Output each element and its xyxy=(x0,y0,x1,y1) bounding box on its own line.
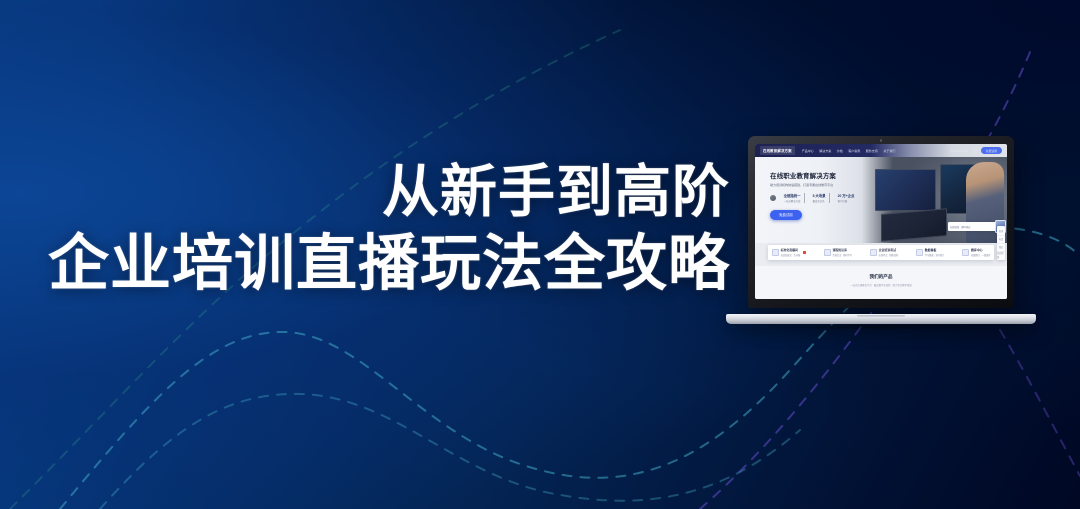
hero-title: 在线职业教育解决方案 xyxy=(770,171,891,180)
feature-desc-0: 高清低延迟 · 互动强 xyxy=(781,253,800,257)
hero-stat-1: 8 大场景 覆盖全业务 xyxy=(809,193,830,203)
promo-banner: 从新手到高阶 企业培训直播玩法全攻略 在线教育解决方案 产品中心 解决方案 价格… xyxy=(0,0,1080,509)
stat-label-1: 覆盖全业务 xyxy=(813,199,826,203)
phone-number[interactable]: 400-000-0000 xyxy=(951,149,968,153)
feature-desc-2: 在线考试 · 智能阅卷 xyxy=(879,253,898,257)
feature-item-3[interactable]: 数据看板 学习数据 · 实时统计 xyxy=(916,248,944,257)
nav-link-5[interactable]: 关于我们 xyxy=(883,149,895,153)
feature-item-2[interactable]: 企业培训考试 在线考试 · 智能阅卷 xyxy=(870,248,898,257)
laptop-lid: 在线教育解决方案 产品中心 解决方案 价格 客户案例 服务支持 关于我们 400… xyxy=(748,136,1014,308)
hero-copy: 在线职业教育解决方案 助力培训机构快速搭建，打造专属在线教育平台 全链路统一 一… xyxy=(770,171,891,220)
hot-badge-icon xyxy=(803,251,805,253)
feature-item-0[interactable]: 标准化直播间 高清低延迟 · 互动强 xyxy=(772,248,806,257)
webcam-icon xyxy=(880,139,882,141)
products-section: 我们的产品 一站式在线教育平台 · 覆盖教学全流程 · 助力企业降本增效 xyxy=(755,266,1007,299)
stats-badge-icon xyxy=(770,195,776,201)
feature-exam-icon xyxy=(870,249,877,256)
stat-value-2: 20 万+企业 xyxy=(838,193,855,198)
feature-desc-1: 资源沉淀 · 随时学习 xyxy=(833,253,852,257)
feature-title-1: 课程知识库 xyxy=(833,248,852,252)
feature-question-bank-icon xyxy=(962,249,969,256)
side-item-back-to-top[interactable]: 回到顶部 xyxy=(997,252,1005,259)
stat-label-0: 一站式解决方案 xyxy=(784,199,801,203)
feature-title-2: 企业培训考试 xyxy=(879,248,898,252)
laptop-base xyxy=(726,314,1036,324)
nav-link-4[interactable]: 服务支持 xyxy=(866,149,878,153)
hero-stats: 全链路统一 一站式解决方案 8 大场景 覆盖全业务 20 万+企业 客户信赖 xyxy=(770,193,891,203)
section-title: 我们的产品 xyxy=(755,274,1007,280)
stat-value-0: 全链路统一 xyxy=(784,193,801,198)
feature-title-0: 标准化直播间 xyxy=(781,248,800,252)
hero-tablet xyxy=(881,208,947,242)
feature-item-1[interactable]: 课程知识库 资源沉淀 · 随时学习 xyxy=(824,248,852,257)
side-toolbar: 咨询 电话 微信 回到顶部 xyxy=(997,226,1005,260)
feature-library-icon xyxy=(824,249,831,256)
hero-stat-0: 全链路统一 一站式解决方案 xyxy=(780,193,805,203)
nav-link-1[interactable]: 解决方案 xyxy=(819,149,831,153)
feature-live-icon xyxy=(772,249,779,256)
site-nav-links: 产品中心 解决方案 价格 客户案例 服务支持 关于我们 xyxy=(802,149,896,153)
nav-link-2[interactable]: 价格 xyxy=(837,149,843,153)
site-navbar: 在线教育解决方案 产品中心 解决方案 价格 客户案例 服务支持 关于我们 400… xyxy=(755,144,1007,157)
side-item-consult[interactable]: 咨询 xyxy=(997,228,1005,236)
nav-link-0[interactable]: 产品中心 xyxy=(802,149,814,153)
side-item-phone[interactable]: 电话 xyxy=(997,236,1005,244)
feature-desc-4: 海量题目 · 一键组卷 xyxy=(971,253,990,257)
stat-label-2: 客户信赖 xyxy=(838,199,855,203)
headline-line-2: 企业培训直播玩法全攻略 xyxy=(0,229,730,299)
login-link[interactable]: 登录 xyxy=(972,149,978,153)
site-nav-right: 400-000-0000 登录 免费试用 xyxy=(951,147,1002,154)
feature-title-3: 数据看板 xyxy=(925,248,944,252)
nav-link-3[interactable]: 客户案例 xyxy=(848,149,860,153)
stat-value-1: 8 大场景 xyxy=(813,193,826,198)
laptop-notch xyxy=(857,315,905,317)
hero-subtitle: 助力培训机构快速搭建，打造专属在线教育平台 xyxy=(770,183,891,187)
feature-card: 标准化直播间 高清低延迟 · 互动强 课程知识库 资源沉淀 · 随时学习 xyxy=(768,245,995,260)
nav-trial-button[interactable]: 免费试用 xyxy=(981,147,1002,154)
laptop-mockup: 在线教育解决方案 产品中心 解决方案 价格 客户案例 服务支持 关于我们 400… xyxy=(726,136,1036,326)
hero-cta-button[interactable]: 免费试用 xyxy=(770,210,802,220)
feature-desc-3: 学习数据 · 实时统计 xyxy=(925,253,944,257)
website-preview: 在线教育解决方案 产品中心 解决方案 价格 客户案例 服务支持 关于我们 400… xyxy=(755,144,1007,299)
feature-dashboard-icon xyxy=(916,249,923,256)
laptop-screen: 在线教育解决方案 产品中心 解决方案 价格 客户案例 服务支持 关于我们 400… xyxy=(755,144,1007,299)
feature-title-4: 题库中心 xyxy=(971,248,990,252)
site-logo[interactable]: 在线教育解决方案 xyxy=(760,146,795,154)
hero-stat-2: 20 万+企业 客户信赖 xyxy=(834,193,858,203)
chat-prompt-card[interactable]: 在线咨询 · 即时响应 xyxy=(948,222,996,231)
headline-line-1: 从新手到高阶 xyxy=(0,160,730,225)
feature-item-4[interactable]: 题库中心 海量题目 · 一键组卷 xyxy=(962,248,990,257)
section-subtitle: 一站式在线教育平台 · 覆盖教学全流程 · 助力企业降本增效 xyxy=(755,283,1007,287)
banner-headline: 从新手到高阶 企业培训直播玩法全攻略 xyxy=(0,160,748,299)
chat-prompt-text: 在线咨询 · 即时响应 xyxy=(950,225,970,229)
